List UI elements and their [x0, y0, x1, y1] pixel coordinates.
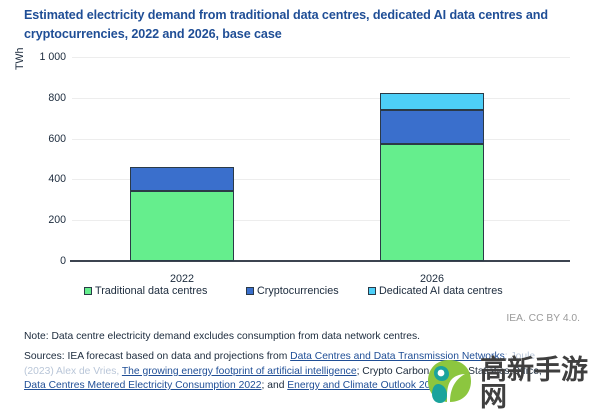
- y-tick-1000: 1 000: [39, 51, 66, 63]
- bar-segment-traditional-2026[interactable]: [380, 144, 484, 261]
- chart-legend: Traditional data centres Cryptocurrencie…: [0, 284, 600, 304]
- bar-segment-cryptocurrencies-2022[interactable]: [130, 167, 234, 191]
- bar-segment-dedicated-ai-2026[interactable]: [380, 93, 484, 110]
- chart-sources: Sources: IEA forecast based on data and …: [24, 350, 564, 394]
- y-tick-800: 800: [48, 92, 66, 104]
- source-link-energy-climate-outlook[interactable]: Energy and Climate Outlook 2018.: [287, 380, 444, 391]
- y-tick-600: 600: [48, 133, 66, 145]
- y-tick-0: 0: [60, 255, 66, 267]
- sources-mid-3: ; and: [262, 380, 288, 391]
- bar-2022[interactable]: [130, 167, 234, 261]
- legend-label-traditional: Traditional data centres: [95, 285, 207, 297]
- y-axis-tick-labels: 1 000 800 600 400 200 0: [0, 57, 66, 261]
- source-link-metered-electricity-consumption[interactable]: Data Centres Metered Electricity Consump…: [24, 380, 262, 391]
- legend-item-cryptocurrencies[interactable]: Cryptocurrencies: [246, 285, 339, 297]
- legend-label-cryptocurrencies: Cryptocurrencies: [257, 285, 339, 297]
- legend-item-dedicated-ai-data-centres[interactable]: Dedicated AI data centres: [368, 285, 503, 297]
- legend-swatch-icon-traditional: [84, 287, 92, 295]
- chart-note: Note: Data centre electricity demand exc…: [24, 331, 420, 342]
- legend-swatch-icon-dedicated-ai: [368, 287, 376, 295]
- source-link-data-centres-transmission[interactable]: Data Centres and Data Transmission Netwo…: [290, 351, 505, 362]
- bar-2026[interactable]: [380, 93, 484, 261]
- y-tick-400: 400: [48, 173, 66, 185]
- sources-prefix: Sources: IEA forecast based on data and …: [24, 351, 290, 362]
- legend-label-dedicated-ai: Dedicated AI data centres: [379, 285, 503, 297]
- bar-segment-cryptocurrencies-2026[interactable]: [380, 110, 484, 144]
- sources-mid-2: ; Crypto Carbon Central Statistics Offic…: [357, 366, 542, 377]
- bar-segment-traditional-2022[interactable]: [130, 191, 234, 261]
- gridline-600: [72, 139, 570, 140]
- chart-canvas: TWh 1 000 800 600 400 200 0 2022 2026: [0, 48, 600, 278]
- plot-area: 2022 2026: [72, 57, 570, 261]
- legend-item-traditional-data-centres[interactable]: Traditional data centres: [84, 285, 207, 297]
- legend-swatch-icon-cryptocurrencies: [246, 287, 254, 295]
- source-link-growing-energy-footprint[interactable]: The growing energy footprint of artifici…: [122, 366, 357, 377]
- chart-title: Estimated electricity demand from tradit…: [24, 6, 582, 44]
- license-text: IEA. CC BY 4.0.: [506, 313, 580, 324]
- gridline-800: [72, 98, 570, 99]
- y-tick-200: 200: [48, 214, 66, 226]
- gridline-1000: [72, 57, 570, 58]
